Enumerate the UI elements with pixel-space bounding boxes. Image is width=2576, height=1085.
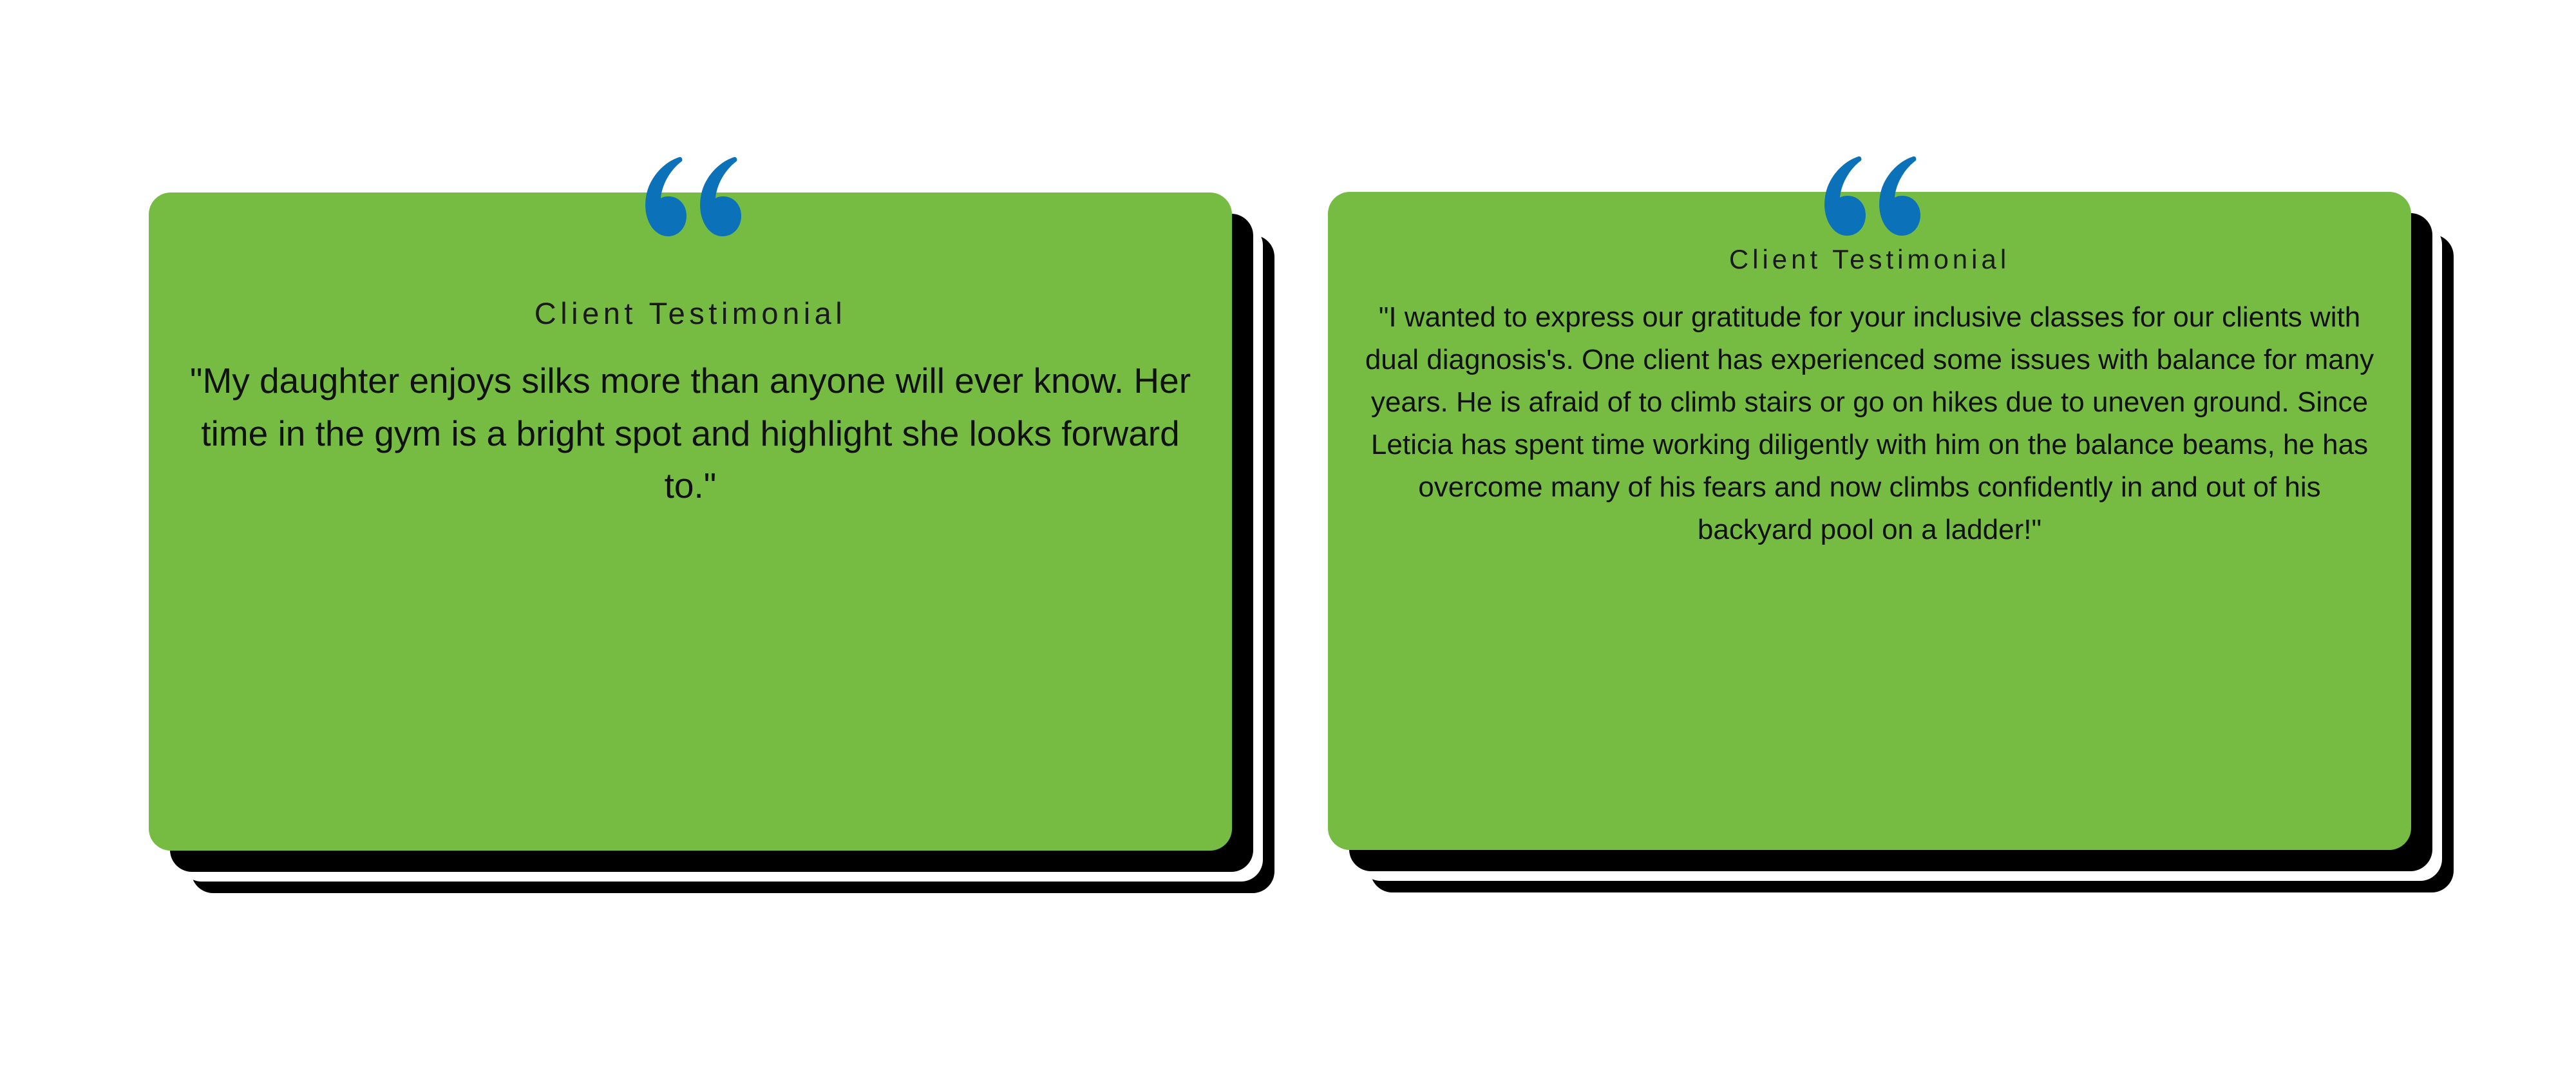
card-eyebrow-2: Client Testimonial bbox=[1359, 243, 2380, 276]
testimonials-canvas: Client Testimonial "My daughter enjoys s… bbox=[0, 0, 2576, 1085]
card-surface-1: Client Testimonial "My daughter enjoys s… bbox=[149, 193, 1232, 851]
card-content-1: Client Testimonial "My daughter enjoys s… bbox=[149, 296, 1232, 513]
card-surface-2: Client Testimonial "I wanted to express … bbox=[1328, 192, 2411, 850]
card-content-2: Client Testimonial "I wanted to express … bbox=[1328, 243, 2411, 551]
quote-open-icon bbox=[639, 155, 742, 239]
card-quote-text-1: "My daughter enjoys silks more than anyo… bbox=[182, 355, 1198, 512]
testimonial-card-1: Client Testimonial "My daughter enjoys s… bbox=[149, 193, 1232, 851]
card-quote-text-2: "I wanted to express our gratitude for y… bbox=[1359, 296, 2380, 551]
quote-open-icon bbox=[1818, 155, 1921, 238]
card-eyebrow-1: Client Testimonial bbox=[182, 296, 1198, 332]
testimonial-card-2: Client Testimonial "I wanted to express … bbox=[1328, 192, 2411, 850]
